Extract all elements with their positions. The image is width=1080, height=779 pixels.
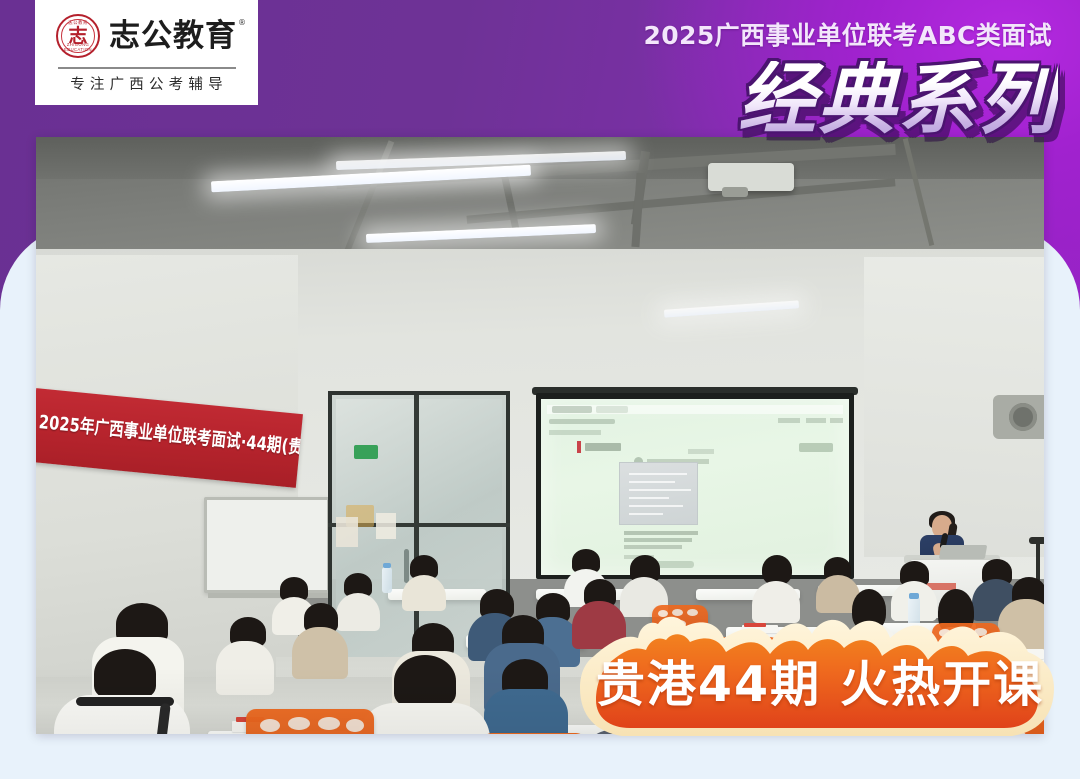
logo-row: 志公教育 志 ZHIGONG EDUCATION 志公教育 ® — [56, 11, 237, 61]
whiteboard-icon — [204, 497, 330, 593]
microphone-icon — [1029, 537, 1044, 544]
water-bottle — [382, 567, 392, 593]
poster-title-wrap: 经典系列 — [738, 48, 1058, 152]
classroom-red-banner-text: 2025年广西事业单位联考面试·44期(贵港) — [38, 408, 301, 460]
registered-mark: ® — [238, 19, 247, 27]
poster-title: 经典系列 — [738, 61, 1058, 139]
projector-icon — [708, 163, 794, 191]
slide-meta — [688, 449, 714, 454]
slide-menu-item — [806, 418, 826, 423]
slide-paragraph — [624, 545, 682, 549]
slide-document-image — [619, 462, 698, 525]
slide-browser-tab — [552, 406, 592, 413]
slide-browser-tab — [596, 406, 628, 413]
slide-accent-bar — [577, 441, 581, 453]
slide-breadcrumb — [549, 430, 601, 435]
slide-menu-item — [830, 418, 843, 423]
slide-url-bar — [549, 419, 615, 424]
slide-menu-item — [778, 418, 800, 423]
wall-fan-icon — [993, 395, 1044, 439]
door-handle — [404, 549, 409, 583]
laptop — [939, 545, 987, 559]
poster-subtitle: 2025广西事业单位联考ABC类面试 — [643, 16, 1052, 52]
brand-slogan: 专注广西公考辅导 — [65, 73, 228, 94]
whiteboard-tray — [208, 593, 328, 598]
student-body — [336, 593, 380, 631]
exit-sign-icon — [354, 445, 378, 459]
brand-name-text: 志公教育 — [109, 18, 237, 54]
slide-logo — [799, 443, 833, 452]
slide-heading — [585, 443, 621, 451]
seal-char: 志 — [68, 27, 87, 46]
bottle-cap — [909, 593, 919, 599]
projector-lens — [722, 187, 748, 197]
seal-icon: 志公教育 志 ZHIGONG EDUCATION — [56, 14, 100, 58]
slide-paragraph — [624, 538, 692, 542]
course-open-banner: 贵港44期 火热开课 — [568, 612, 1068, 744]
brand-name: 志公教育 ® — [109, 21, 237, 52]
wall-poster — [336, 517, 358, 547]
slide-paragraph — [624, 531, 698, 535]
wall-poster — [376, 513, 396, 539]
bottle-cap — [383, 563, 391, 568]
brand-logo: 志公教育 志 ZHIGONG EDUCATION 志公教育 ® 专注广西公考辅导 — [35, 0, 258, 105]
course-open-banner-text: 贵港44期 火热开课 — [568, 612, 1068, 744]
logo-divider — [58, 67, 236, 68]
student-body — [402, 575, 446, 611]
